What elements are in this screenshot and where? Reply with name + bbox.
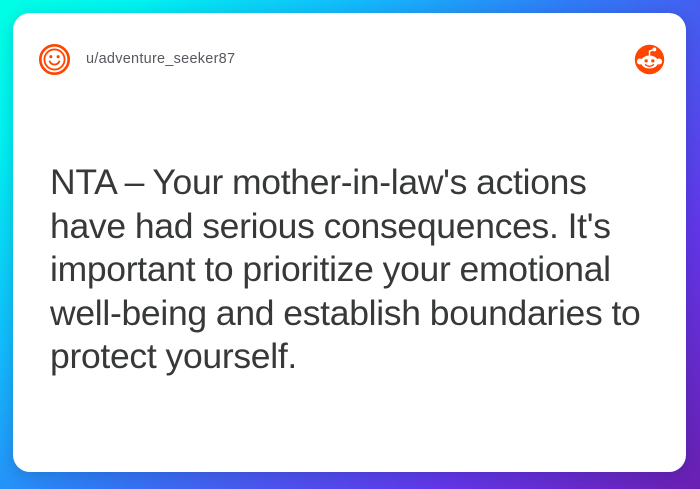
post-header: u/adventure_seeker87 xyxy=(13,13,686,105)
username-label: u/adventure_seeker87 xyxy=(86,51,235,67)
screenshot-canvas: u/adventure_seeker87 xyxy=(0,0,700,489)
smiley-face-avatar-icon xyxy=(38,43,71,76)
reddit-snoo-icon xyxy=(634,44,665,75)
post-body: NTA – Your mother-in-law's actions have … xyxy=(50,161,655,379)
post-text: NTA – Your mother-in-law's actions have … xyxy=(50,161,655,379)
reddit-post-card: u/adventure_seeker87 xyxy=(13,13,686,472)
